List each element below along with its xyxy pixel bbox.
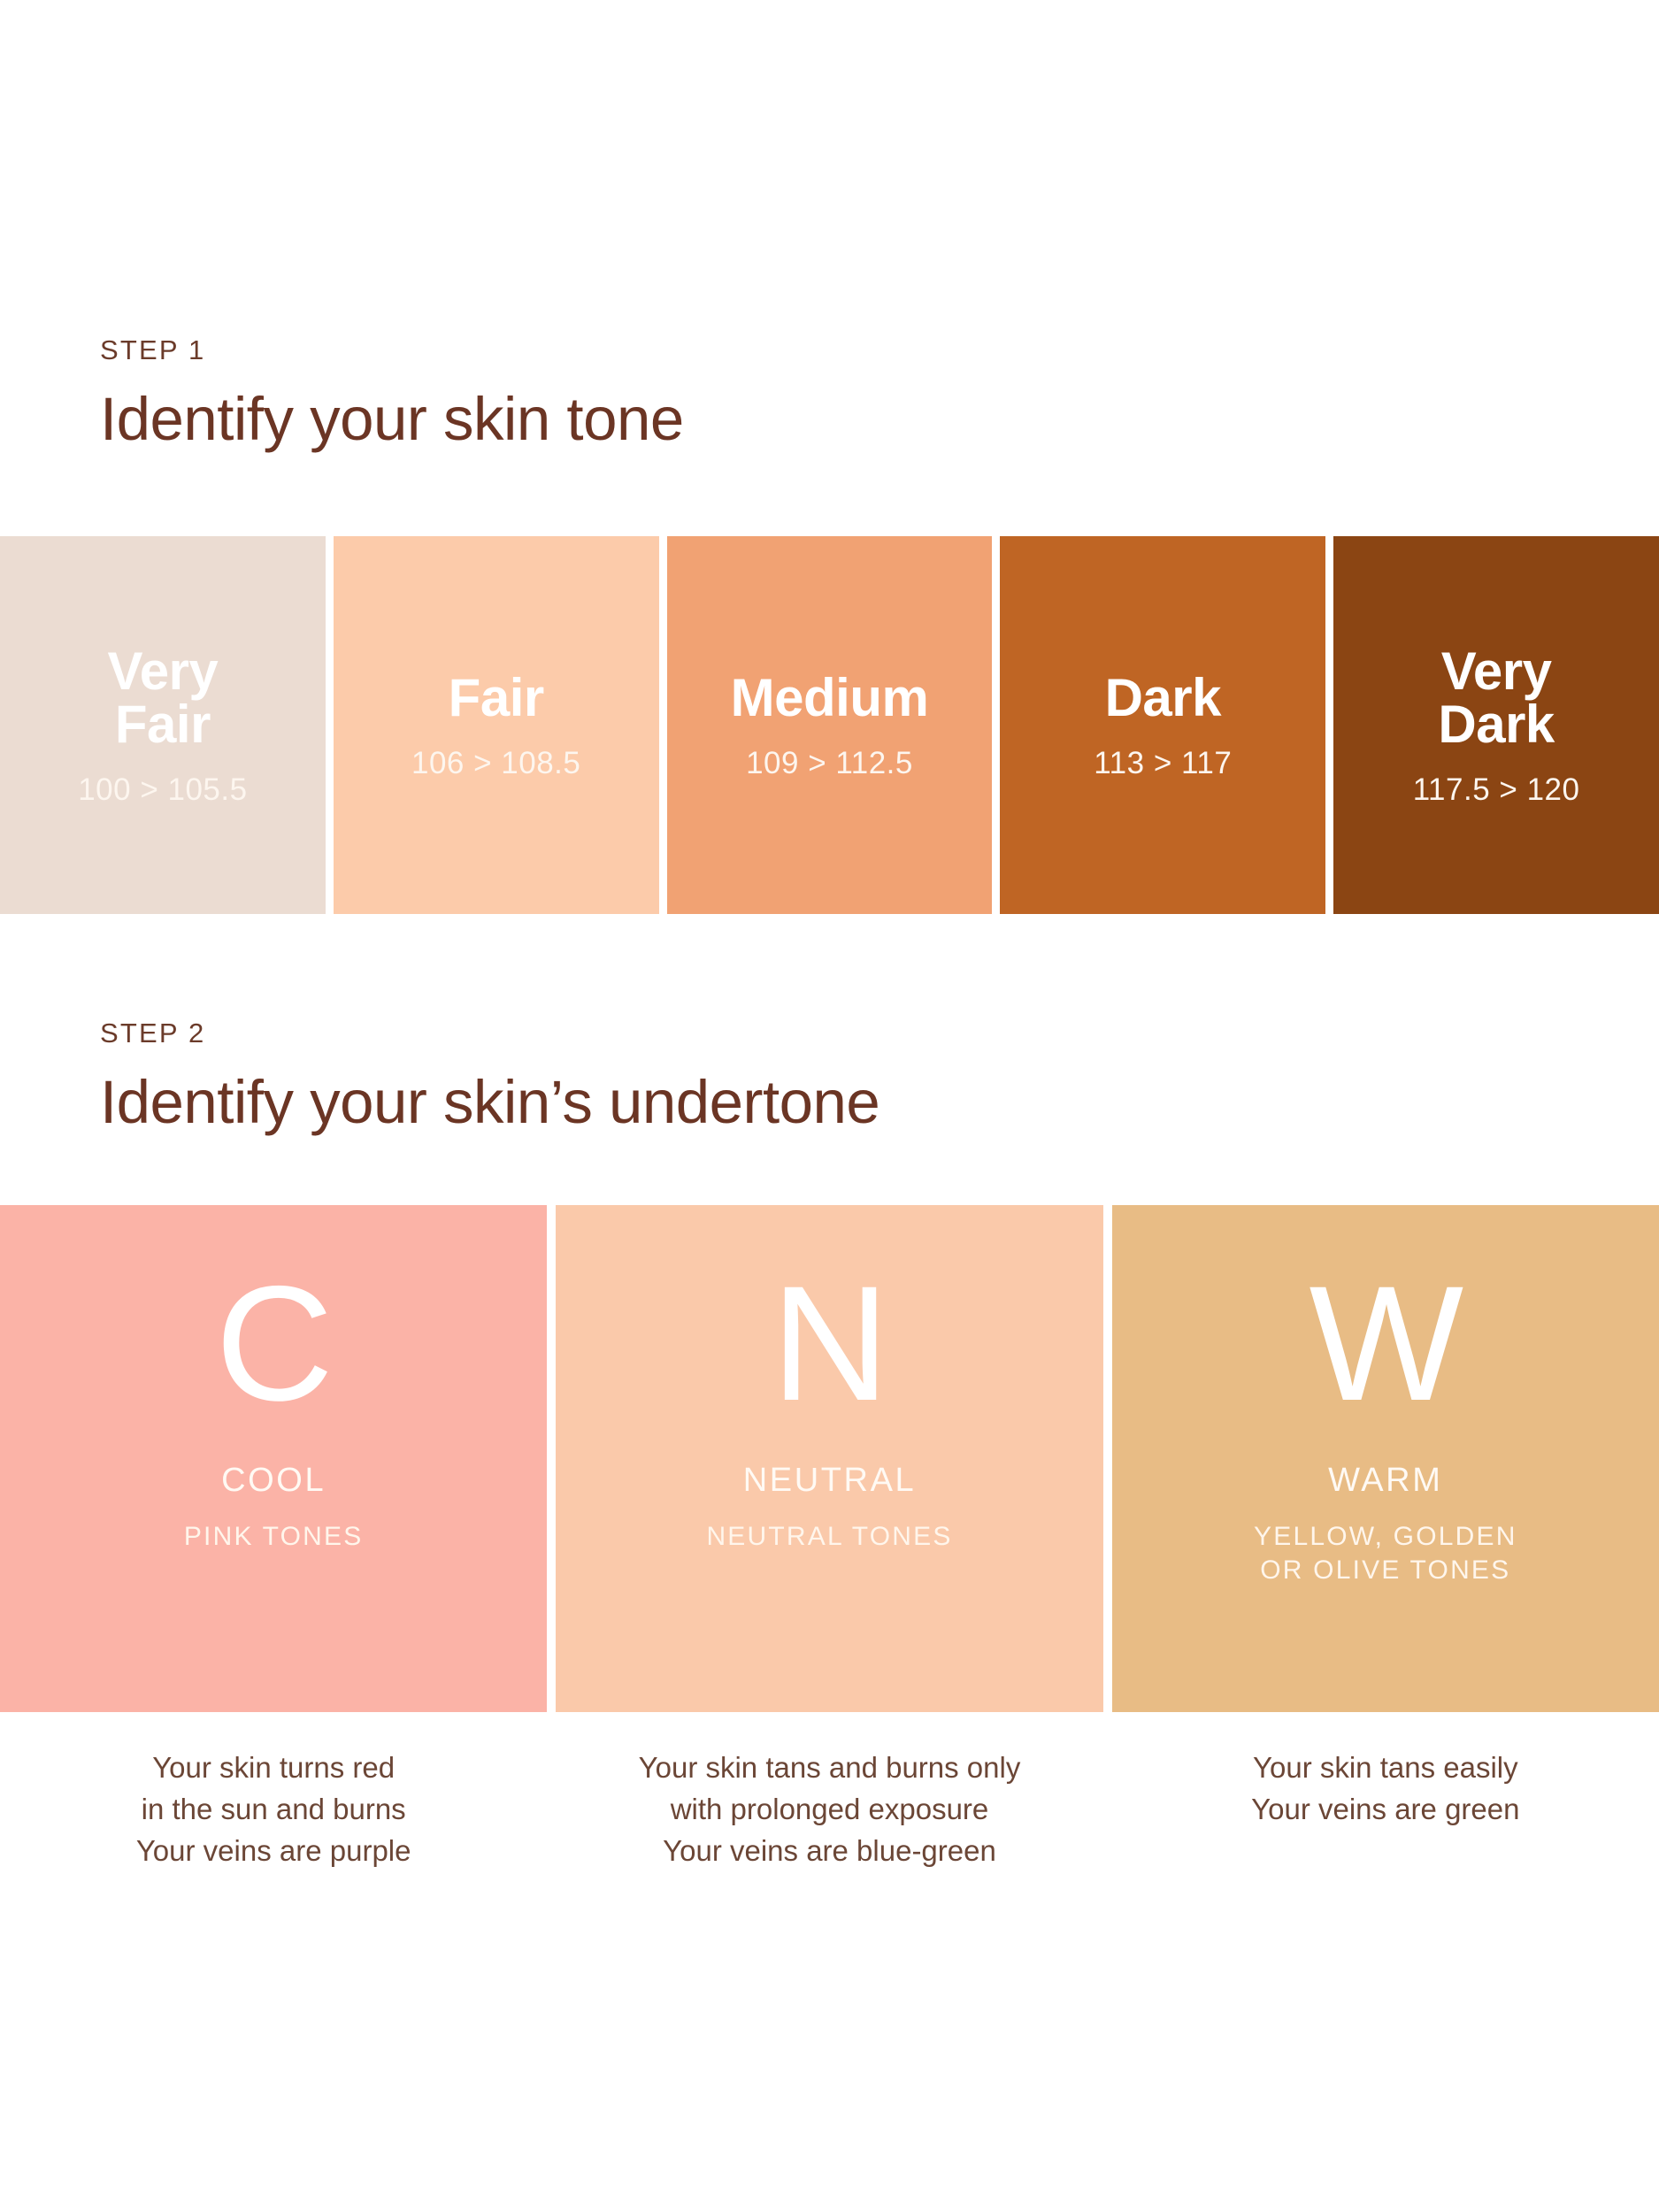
skin-tone-range: 106 > 108.5 [411, 748, 580, 779]
undertone-subtitle: YELLOW, GOLDEN OR OLIVE TONES [1254, 1520, 1517, 1588]
skin-tone-swatch-fair[interactable]: Fair 106 > 108.5 [334, 536, 659, 914]
step-1-title: Identify your skin tone [100, 387, 684, 453]
skin-tone-name: Medium [731, 672, 929, 725]
skin-tone-name: Very Dark [1438, 645, 1554, 751]
skin-tone-swatch-very-dark[interactable]: Very Dark 117.5 > 120 [1333, 536, 1659, 914]
skin-tone-swatch-dark[interactable]: Dark 113 > 117 [1000, 536, 1325, 914]
undertone-description-neutral: Your skin tans and burns only with prolo… [556, 1747, 1102, 1872]
undertone-description-cool: Your skin turns red in the sun and burns… [0, 1747, 547, 1872]
undertone-description-warm: Your skin tans easily Your veins are gre… [1112, 1747, 1659, 1872]
skin-tone-name: Dark [1105, 672, 1221, 725]
step-1-label: STEP 1 [100, 336, 684, 364]
skin-tone-range: 100 > 105.5 [78, 774, 247, 805]
undertone-subtitle: PINK TONES [184, 1520, 364, 1554]
skin-tone-swatch-medium[interactable]: Medium 109 > 112.5 [667, 536, 993, 914]
undertone-letter-n: N [772, 1263, 888, 1426]
undertone-name: COOL [221, 1463, 326, 1497]
undertone-panel-neutral[interactable]: N NEUTRAL NEUTRAL TONES [556, 1205, 1102, 1712]
undertone-name: NEUTRAL [743, 1463, 917, 1497]
undertone-name: WARM [1328, 1463, 1442, 1497]
step-2-heading-block: STEP 2 Identify your skin’s undertone [100, 1019, 879, 1136]
undertone-panel-row: C COOL PINK TONES N NEUTRAL NEUTRAL TONE… [0, 1205, 1659, 1712]
step-1-heading-block: STEP 1 Identify your skin tone [100, 336, 684, 453]
step-2-label: STEP 2 [100, 1019, 879, 1047]
skin-tone-range: 117.5 > 120 [1413, 774, 1580, 805]
undertone-panel-cool[interactable]: C COOL PINK TONES [0, 1205, 547, 1712]
skin-tone-range: 109 > 112.5 [746, 748, 913, 779]
skin-tone-name: Very Fair [108, 645, 219, 751]
step-2-title: Identify your skin’s undertone [100, 1070, 879, 1136]
skin-tone-swatch-row: Very Fair 100 > 105.5 Fair 106 > 108.5 M… [0, 536, 1659, 914]
skin-tone-name: Fair [449, 672, 544, 725]
undertone-description-row: Your skin turns red in the sun and burns… [0, 1747, 1659, 1872]
skin-tone-guide-page: STEP 1 Identify your skin tone Very Fair… [0, 0, 1659, 2212]
undertone-subtitle: NEUTRAL TONES [706, 1520, 952, 1554]
undertone-panel-warm[interactable]: W WARM YELLOW, GOLDEN OR OLIVE TONES [1112, 1205, 1659, 1712]
undertone-letter-c: C [215, 1263, 332, 1426]
undertone-letter-w: W [1310, 1263, 1463, 1426]
skin-tone-swatch-very-fair[interactable]: Very Fair 100 > 105.5 [0, 536, 326, 914]
skin-tone-range: 113 > 117 [1094, 748, 1232, 779]
